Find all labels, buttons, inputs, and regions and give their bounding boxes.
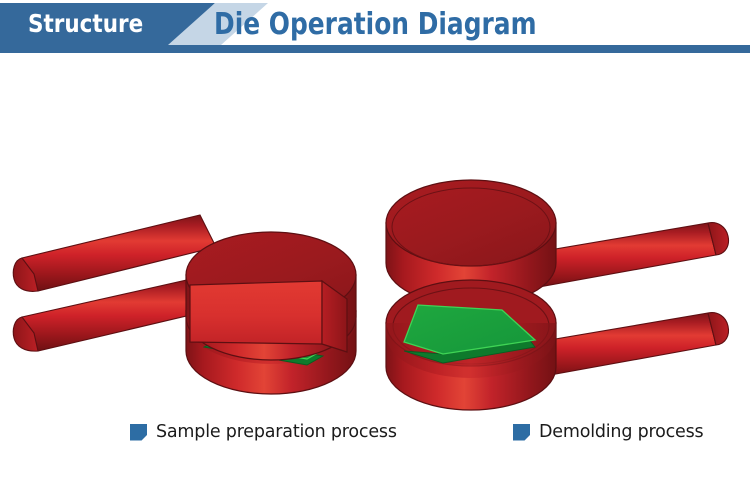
left-upper-die [186, 232, 356, 360]
legend-label-demolding: Demolding process [539, 422, 703, 442]
legend-swatch-icon [513, 424, 530, 441]
right-mold-assembly [386, 180, 729, 410]
page-title-text: Die Operation Diagram [214, 7, 537, 42]
page-header: Structure Die Operation Diagram [0, 0, 750, 55]
legend-swatch-icon [130, 424, 147, 441]
legend: Sample preparation process Demolding pro… [0, 422, 750, 462]
legend-item-sample-preparation: Sample preparation process [130, 422, 397, 442]
header-underline-bar [0, 45, 750, 53]
diagram-svg [0, 55, 750, 415]
legend-label-sample-preparation: Sample preparation process [156, 422, 397, 442]
page-title: Die Operation Diagram [0, 7, 750, 42]
left-mold-assembly [13, 215, 356, 394]
die-operation-diagram [0, 55, 750, 415]
legend-item-demolding: Demolding process [513, 422, 703, 442]
